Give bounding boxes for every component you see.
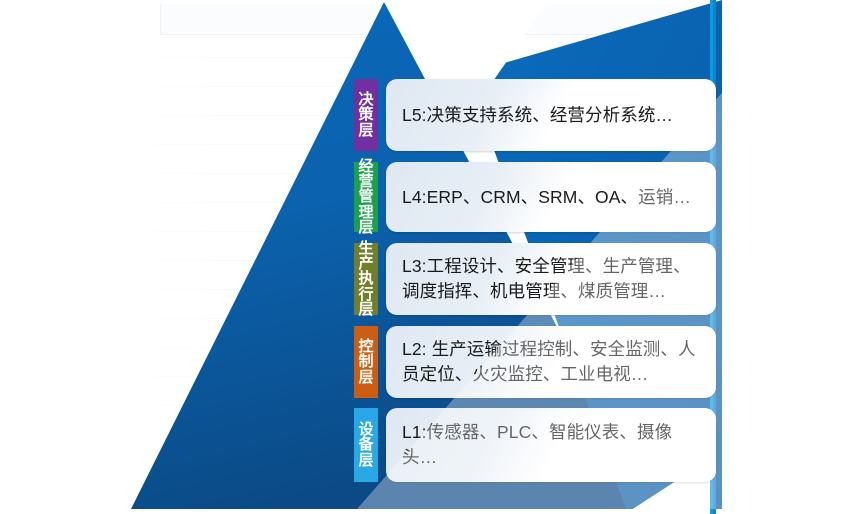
tag-char: 策 xyxy=(358,107,373,122)
layer-card-l5[interactable]: L5:决策支持系统、经营分析系统… xyxy=(386,79,716,151)
layer-card-l3[interactable]: L3:工程设计、安全管理、生产管理、调度指挥、机电管理、煤质管理… xyxy=(386,243,716,315)
tag-char: 执 xyxy=(358,271,373,286)
layer-text-l2: L2: 生产运输过程控制、安全监测、人员定位、火灾监控、工业电视… xyxy=(402,337,702,387)
tag-char: 层 xyxy=(358,453,373,468)
pyramid-diagram-stage: 决 策 层 L5:决策支持系统、经营分析系统… 经 营 管 理 层 L4:ERP… xyxy=(0,0,856,514)
layer-row-l5[interactable]: 决 策 层 L5:决策支持系统、经营分析系统… xyxy=(354,79,716,151)
layer-row-l1[interactable]: 设 备 层 L1:传感器、PLC、智能仪表、摄像头… xyxy=(354,408,716,482)
layer-card-l4[interactable]: L4:ERP、CRM、SRM、OA、运销… xyxy=(386,162,716,232)
tag-char: 层 xyxy=(358,220,373,235)
layer-text-l3: L3:工程设计、安全管理、生产管理、调度指挥、机电管理、煤质管理… xyxy=(402,254,702,304)
tag-char: 层 xyxy=(358,123,373,138)
tag-char: 行 xyxy=(358,287,373,302)
layer-row-l4[interactable]: 经 营 管 理 层 L4:ERP、CRM、SRM、OA、运销… xyxy=(354,162,716,232)
layer-text-l4: L4:ERP、CRM、SRM、OA、运销… xyxy=(402,185,691,210)
layer-row-l3[interactable]: 生 产 执 行 层 L3:工程设计、安全管理、生产管理、调度指挥、机电管理、煤质… xyxy=(354,243,716,315)
layer-text-l5: L5:决策支持系统、经营分析系统… xyxy=(402,103,673,128)
layer-text-l1: L1:传感器、PLC、智能仪表、摄像头… xyxy=(402,420,702,470)
tag-char: 制 xyxy=(358,354,373,369)
tag-char: 理 xyxy=(358,205,373,220)
tag-char: 层 xyxy=(358,370,373,385)
layer-tag-l4: 经 营 管 理 层 xyxy=(354,162,378,232)
layer-row-l2[interactable]: 控 制 层 L2: 生产运输过程控制、安全监测、人员定位、火灾监控、工业电视… xyxy=(354,326,716,398)
layer-tag-l5: 决 策 层 xyxy=(354,79,378,151)
tag-char: 备 xyxy=(358,437,373,452)
tag-char: 层 xyxy=(358,302,373,317)
layer-tag-l1: 设 备 层 xyxy=(354,408,378,482)
tag-char: 经 xyxy=(358,159,373,174)
tag-char: 管 xyxy=(358,189,373,204)
tag-char: 生 xyxy=(358,241,373,256)
layer-card-l1[interactable]: L1:传感器、PLC、智能仪表、摄像头… xyxy=(386,408,716,482)
layer-card-l2[interactable]: L2: 生产运输过程控制、安全监测、人员定位、火灾监控、工业电视… xyxy=(386,326,716,398)
layer-tag-l2: 控 制 层 xyxy=(354,326,378,398)
layer-tag-l3: 生 产 执 行 层 xyxy=(354,243,378,315)
layer-rows: 决 策 层 L5:决策支持系统、经营分析系统… 经 营 管 理 层 L4:ERP… xyxy=(0,0,856,514)
